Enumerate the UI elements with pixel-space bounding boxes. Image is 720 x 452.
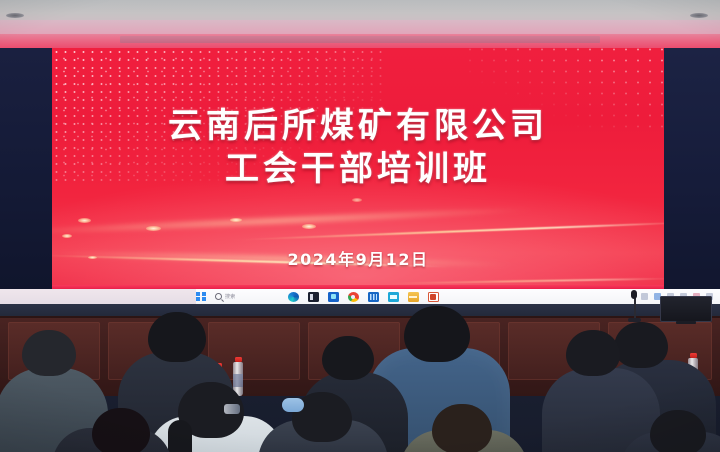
- file-explorer-icon[interactable]: [408, 292, 419, 302]
- bottle-cap: [235, 357, 242, 362]
- search-placeholder-label: 搜索: [225, 293, 236, 300]
- led-display-screen: 云南后所煤矿有限公司 工会干部培训班 2024年9月12日: [52, 48, 664, 289]
- taskbar-app-group[interactable]: 搜索: [196, 292, 439, 302]
- screen-title-block: 云南后所煤矿有限公司 工会干部培训班: [52, 106, 664, 189]
- mail-icon[interactable]: [388, 292, 399, 302]
- taskbar-left-pad: [0, 289, 196, 304]
- screen-date: 2024年9月12日: [52, 246, 664, 270]
- ceiling-speaker-right: [690, 13, 708, 18]
- windows-taskbar[interactable]: 搜索: [0, 289, 720, 304]
- wall-trim-strip: [120, 36, 600, 43]
- ceiling-speaker-left: [6, 13, 24, 18]
- photos-icon[interactable]: [328, 292, 339, 302]
- store-icon[interactable]: [368, 292, 379, 302]
- microphone-head: [631, 290, 637, 299]
- chrome-icon[interactable]: [348, 292, 359, 302]
- ceiling: [0, 0, 720, 22]
- glint-4: [230, 218, 242, 222]
- ponytail: [168, 420, 192, 452]
- powerpoint-icon[interactable]: [428, 292, 439, 302]
- light-streak-3: [382, 277, 664, 284]
- glint-5: [302, 224, 316, 229]
- glint-1: [78, 218, 91, 223]
- podium-monitor: [660, 296, 712, 322]
- hair-scrunchie: [282, 398, 304, 412]
- search-input[interactable]: 搜索: [215, 293, 236, 300]
- light-band-1: [52, 205, 532, 238]
- left-side-wall: [0, 48, 52, 293]
- conference-room-photo: 云南后所煤矿有限公司 工会干部培训班 2024年9月12日 搜索: [0, 0, 720, 452]
- glint-2: [62, 234, 72, 238]
- right-side-wall: [664, 48, 720, 293]
- start-button[interactable]: [196, 292, 206, 301]
- glint-3: [146, 226, 161, 231]
- search-icon: [215, 293, 222, 300]
- bottle-cap: [690, 353, 697, 358]
- screen-title-line-2: 工会干部培训班: [52, 149, 664, 189]
- monitor-stand: [676, 321, 696, 324]
- microphone-stem: [634, 296, 636, 320]
- edge-icon[interactable]: [288, 292, 299, 302]
- eyeglasses: [224, 404, 240, 414]
- terminal-icon[interactable]: [308, 292, 319, 302]
- screen-title-line-1: 云南后所煤矿有限公司: [52, 106, 664, 146]
- taskbar-right-pad: [439, 289, 641, 304]
- glint-7: [352, 198, 362, 202]
- show-hidden-icons-icon[interactable]: [641, 293, 648, 300]
